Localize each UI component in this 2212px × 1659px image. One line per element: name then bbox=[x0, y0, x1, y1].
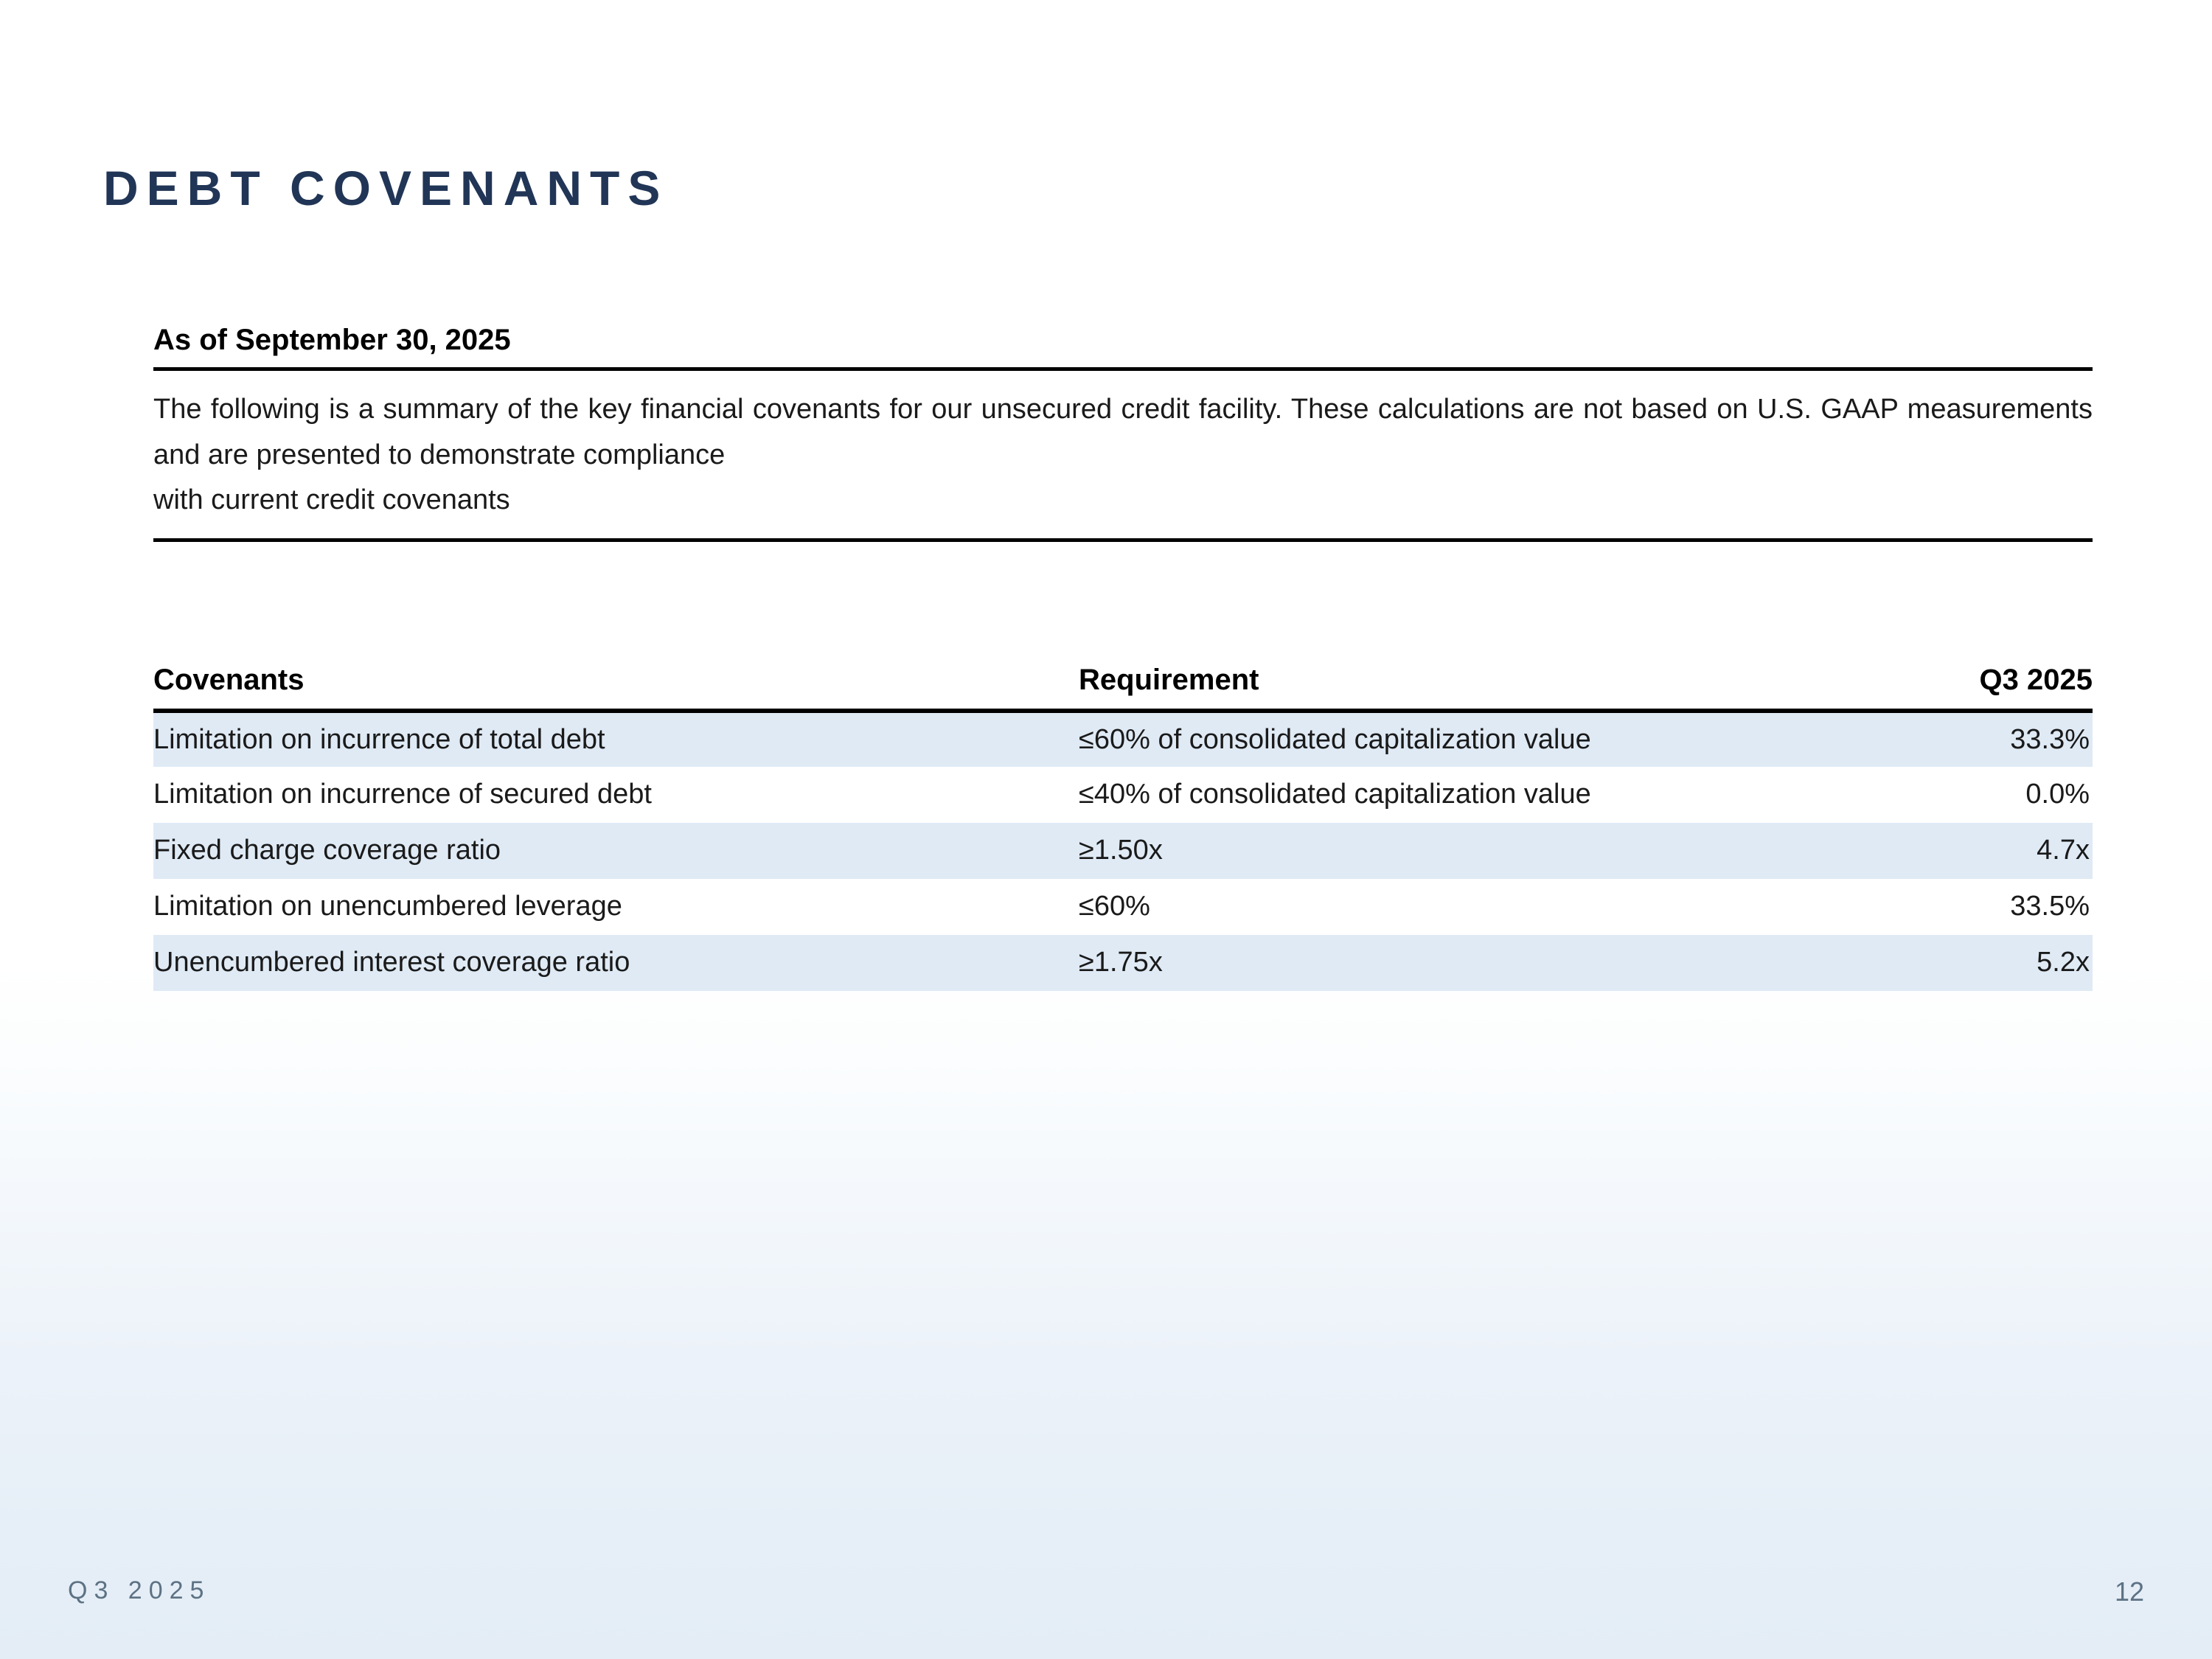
table-row: Unencumbered interest coverage ratio≥1.7… bbox=[153, 935, 2093, 991]
column-header-covenants: Covenants bbox=[153, 664, 1079, 711]
table-row: Limitation on unencumbered leverage≤60%3… bbox=[153, 879, 2093, 935]
intro-paragraph-text: The following is a summary of the key fi… bbox=[153, 394, 2093, 470]
cell-covenant: Limitation on unencumbered leverage bbox=[153, 879, 1079, 935]
table-header-row: Covenants Requirement Q3 2025 bbox=[153, 664, 2093, 711]
cell-covenant: Limitation on incurrence of secured debt bbox=[153, 767, 1079, 823]
footer-page-number: 12 bbox=[2115, 1576, 2144, 1607]
cell-covenant: Fixed charge coverage ratio bbox=[153, 823, 1079, 879]
intro-block: As of September 30, 2025 The following i… bbox=[153, 323, 2093, 542]
column-header-q3-2025: Q3 2025 bbox=[1916, 664, 2093, 711]
intro-paragraph-last-line: with current credit covenants bbox=[153, 478, 2093, 524]
cell-requirement: ≥1.75x bbox=[1079, 935, 1916, 991]
cell-requirement: ≥1.50x bbox=[1079, 823, 1916, 879]
covenants-table-body: Limitation on incurrence of total debt≤6… bbox=[153, 711, 2093, 991]
cell-q3-2025-value: 0.0% bbox=[1916, 767, 2093, 823]
as-of-date-heading: As of September 30, 2025 bbox=[153, 323, 2093, 367]
intro-paragraph: The following is a summary of the key fi… bbox=[153, 371, 2093, 538]
covenants-table: Covenants Requirement Q3 2025 Limitation… bbox=[153, 664, 2093, 991]
cell-covenant: Limitation on incurrence of total debt bbox=[153, 711, 1079, 767]
table-row: Limitation on incurrence of total debt≤6… bbox=[153, 711, 2093, 767]
covenants-table-head: Covenants Requirement Q3 2025 bbox=[153, 664, 2093, 711]
cell-q3-2025-value: 33.5% bbox=[1916, 879, 2093, 935]
cell-requirement: ≤60% bbox=[1079, 879, 1916, 935]
cell-requirement: ≤40% of consolidated capitalization valu… bbox=[1079, 767, 1916, 823]
table-row: Fixed charge coverage ratio≥1.50x4.7x bbox=[153, 823, 2093, 879]
cell-q3-2025-value: 4.7x bbox=[1916, 823, 2093, 879]
cell-requirement: ≤60% of consolidated capitalization valu… bbox=[1079, 711, 1916, 767]
column-header-requirement: Requirement bbox=[1079, 664, 1916, 711]
slide-debt-covenants: DEBT COVENANTS As of September 30, 2025 … bbox=[0, 0, 2212, 1659]
cell-covenant: Unencumbered interest coverage ratio bbox=[153, 935, 1079, 991]
intro-bottom-rule bbox=[153, 538, 2093, 542]
footer-period: Q3 2025 bbox=[68, 1576, 210, 1605]
table-row: Limitation on incurrence of secured debt… bbox=[153, 767, 2093, 823]
cell-q3-2025-value: 5.2x bbox=[1916, 935, 2093, 991]
cell-q3-2025-value: 33.3% bbox=[1916, 711, 2093, 767]
page-title: DEBT COVENANTS bbox=[103, 164, 668, 212]
